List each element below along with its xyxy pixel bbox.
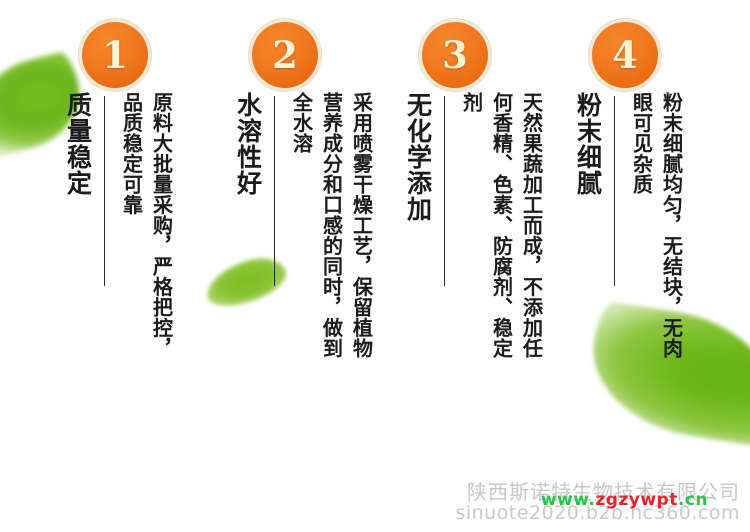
number-badge-2: 2 <box>252 22 318 88</box>
vertical-divider-1 <box>104 96 105 286</box>
number-badge-1: 1 <box>82 22 148 88</box>
badge-number-label: 1 <box>102 37 128 74</box>
feature-item-1: 1 质量稳定 原料大批量采购，严格把控，品质稳定可靠 <box>40 0 210 470</box>
feature-body-1: 原料大批量采购，严格把控，品质稳定可靠 <box>117 92 177 360</box>
feature-text-block-1: 质量稳定 原料大批量采购，严格把控，品质稳定可靠 <box>40 92 210 452</box>
watermark-prefix: www. <box>541 490 596 510</box>
badge-number-label: 3 <box>442 37 468 74</box>
feature-title-1: 质量稳定 <box>60 92 96 292</box>
badge-number-label: 4 <box>612 37 638 74</box>
number-badge-4: 4 <box>592 22 658 88</box>
feature-title-3: 无化学添加 <box>400 92 436 302</box>
feature-columns: 1 质量稳定 原料大批量采购，严格把控，品质稳定可靠 2 水溶性好 采用喷雾干燥… <box>0 0 750 532</box>
feature-text-block-2: 水溶性好 采用喷雾干燥工艺，保留植物营养成分和口感的同时，做到全水溶 <box>210 92 380 452</box>
feature-poster: 1 质量稳定 原料大批量采购，严格把控，品质稳定可靠 2 水溶性好 采用喷雾干燥… <box>0 0 750 532</box>
feature-body-3: 天然果蔬加工而成，不添加任何香精、色素、防腐剂、稳定剂 <box>457 92 547 360</box>
watermark-middle: zgzywpt <box>595 490 678 510</box>
feature-item-2: 2 水溶性好 采用喷雾干燥工艺，保留植物营养成分和口感的同时，做到全水溶 <box>210 0 380 470</box>
vertical-divider-4 <box>614 96 615 286</box>
feature-body-4: 粉末细腻均匀，无结块，无肉眼可见杂质 <box>627 92 687 360</box>
number-badge-3: 3 <box>422 22 488 88</box>
feature-text-block-3: 无化学添加 天然果蔬加工而成，不添加任何香精、色素、防腐剂、稳定剂 <box>380 92 550 452</box>
feature-item-3: 3 无化学添加 天然果蔬加工而成，不添加任何香精、色素、防腐剂、稳定剂 <box>380 0 550 470</box>
feature-item-4: 4 粉末细腻 粉末细腻均匀，无结块，无肉眼可见杂质 <box>550 0 720 470</box>
feature-title-4: 粉末细腻 <box>570 92 606 292</box>
feature-body-2: 采用喷雾干燥工艺，保留植物营养成分和口感的同时，做到全水溶 <box>287 92 377 360</box>
watermark-suffix: .cn <box>678 490 708 510</box>
badge-number-label: 2 <box>272 37 298 74</box>
feature-title-2: 水溶性好 <box>230 92 266 292</box>
vertical-divider-3 <box>444 96 445 286</box>
site-watermark: www.zgzywpt.cn <box>541 490 708 510</box>
feature-text-block-4: 粉末细腻 粉末细腻均匀，无结块，无肉眼可见杂质 <box>550 92 720 452</box>
vertical-divider-2 <box>274 96 275 286</box>
